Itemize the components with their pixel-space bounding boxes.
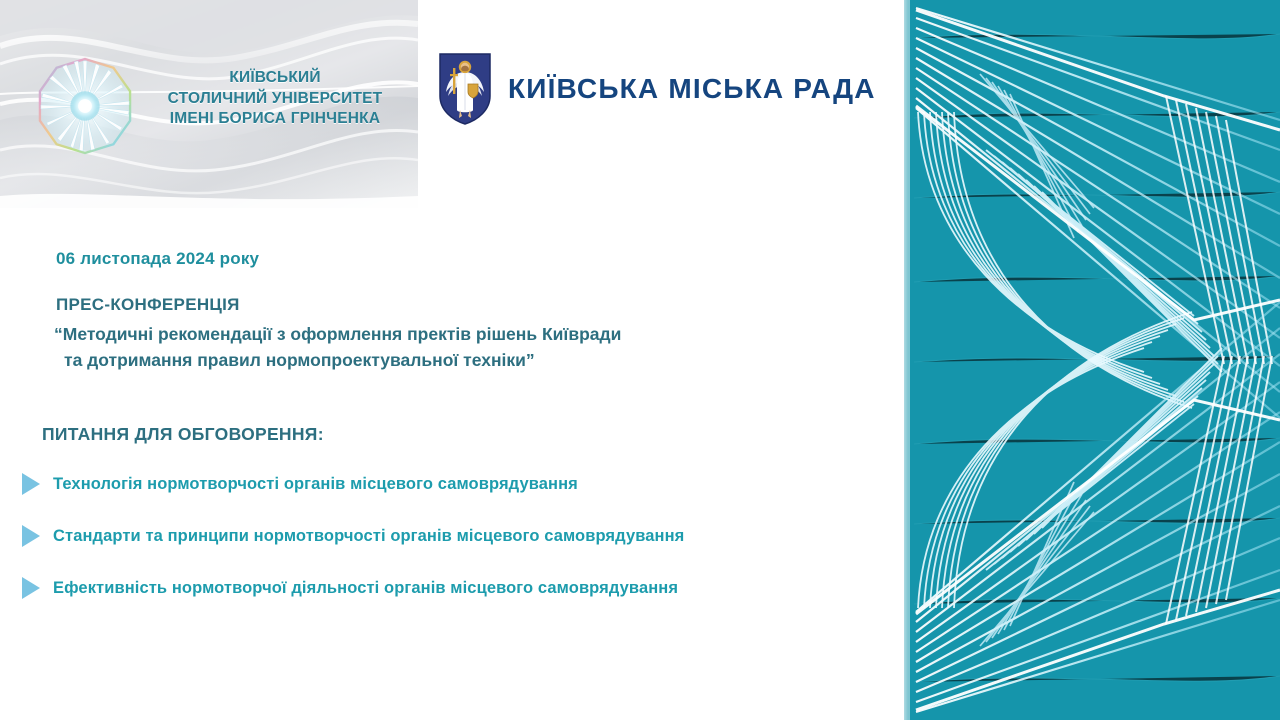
event-title: “Методичні рекомендації з оформлення пре… bbox=[54, 322, 754, 374]
triangle-bullet-icon bbox=[22, 525, 40, 547]
questions-list: Технологія нормотворчості органів місцев… bbox=[22, 458, 842, 614]
question-text: Ефективність нормотворчої діяльності орг… bbox=[53, 579, 678, 598]
event-title-line-2: та дотримання правил нормопроектувальної… bbox=[54, 348, 754, 374]
questions-heading: ПИТАННЯ ДЛЯ ОБГОВОРЕННЯ: bbox=[42, 424, 324, 445]
teal-string-art-panel bbox=[894, 0, 1280, 720]
presentation-slide: КИЇВСЬКИЙ СТОЛИЧНИЙ УНІВЕРСИТЕТ ІМЕНІ БО… bbox=[0, 0, 1280, 720]
event-title-line-1: “Методичні рекомендації з оформлення пре… bbox=[54, 324, 621, 344]
question-text: Стандарти та принципи нормотворчості орг… bbox=[53, 527, 684, 546]
event-type-label: ПРЕС-КОНФЕРЕНЦІЯ bbox=[56, 295, 240, 315]
university-name: КИЇВСЬКИЙ СТОЛИЧНИЙ УНІВЕРСИТЕТ ІМЕНІ БО… bbox=[140, 68, 410, 130]
question-text: Технологія нормотворчості органів місцев… bbox=[53, 475, 578, 494]
kyiv-city-council-title: КИЇВСЬКА МІСЬКА РАДА bbox=[508, 73, 876, 105]
university-name-line-2: СТОЛИЧНИЙ УНІВЕРСИТЕТ bbox=[140, 89, 410, 110]
university-name-line-1: КИЇВСЬКИЙ bbox=[140, 68, 410, 89]
string-art-decoration bbox=[894, 0, 1280, 720]
triangle-bullet-icon bbox=[22, 577, 40, 599]
kyiv-coat-of-arms-icon bbox=[438, 52, 492, 126]
list-item: Технологія нормотворчості органів місцев… bbox=[22, 458, 842, 510]
list-item: Ефективність нормотворчої діяльності орг… bbox=[22, 562, 842, 614]
triangle-bullet-icon bbox=[22, 473, 40, 495]
kyiv-city-council-lockup: КИЇВСЬКА МІСЬКА РАДА bbox=[438, 52, 876, 126]
list-item: Стандарти та принципи нормотворчості орг… bbox=[22, 510, 842, 562]
event-date: 06 листопада 2024 року bbox=[56, 249, 259, 269]
borys-grinchenko-university-emblem-icon bbox=[36, 57, 134, 155]
university-logo-banner: КИЇВСЬКИЙ СТОЛИЧНИЙ УНІВЕРСИТЕТ ІМЕНІ БО… bbox=[0, 0, 418, 208]
university-name-line-3: ІМЕНІ БОРИСА ГРІНЧЕНКА bbox=[140, 109, 410, 130]
